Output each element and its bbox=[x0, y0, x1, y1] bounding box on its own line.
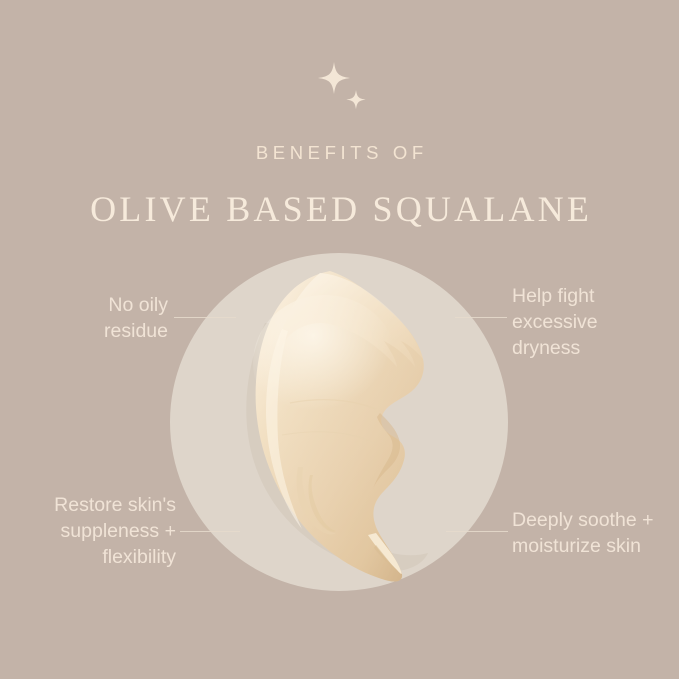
sparkle-icon bbox=[312, 62, 374, 112]
eyebrow-text: BENEFITS OF bbox=[0, 142, 679, 164]
product-swatch bbox=[170, 253, 508, 591]
sparkle-group bbox=[312, 62, 374, 112]
benefit-label-help-fight-excessive-dryness: Help fight excessive dryness bbox=[512, 284, 679, 362]
benefit-label-deeply-soothe-moisturize-skin: Deeply soothe + moisturize skin bbox=[512, 508, 679, 560]
connector-line-deeply-soothe bbox=[446, 531, 508, 532]
connector-line-help-fight bbox=[455, 317, 507, 318]
connector-line-restore-suppleness bbox=[180, 531, 240, 532]
benefits-infographic: BENEFITS OF OLIVE BASED SQUALANE bbox=[0, 0, 679, 679]
cream-swatch-icon bbox=[170, 253, 508, 591]
sparkle-small-icon bbox=[346, 90, 365, 109]
connector-line-no-oily-residue bbox=[174, 317, 236, 318]
benefit-label-no-oily-residue: No oily residue bbox=[0, 293, 168, 345]
page-title: OLIVE BASED SQUALANE bbox=[0, 188, 679, 230]
sparkle-large-icon bbox=[318, 62, 350, 94]
benefit-label-restore-skins-suppleness-flexibility: Restore skin's suppleness + flexibility bbox=[0, 493, 176, 571]
